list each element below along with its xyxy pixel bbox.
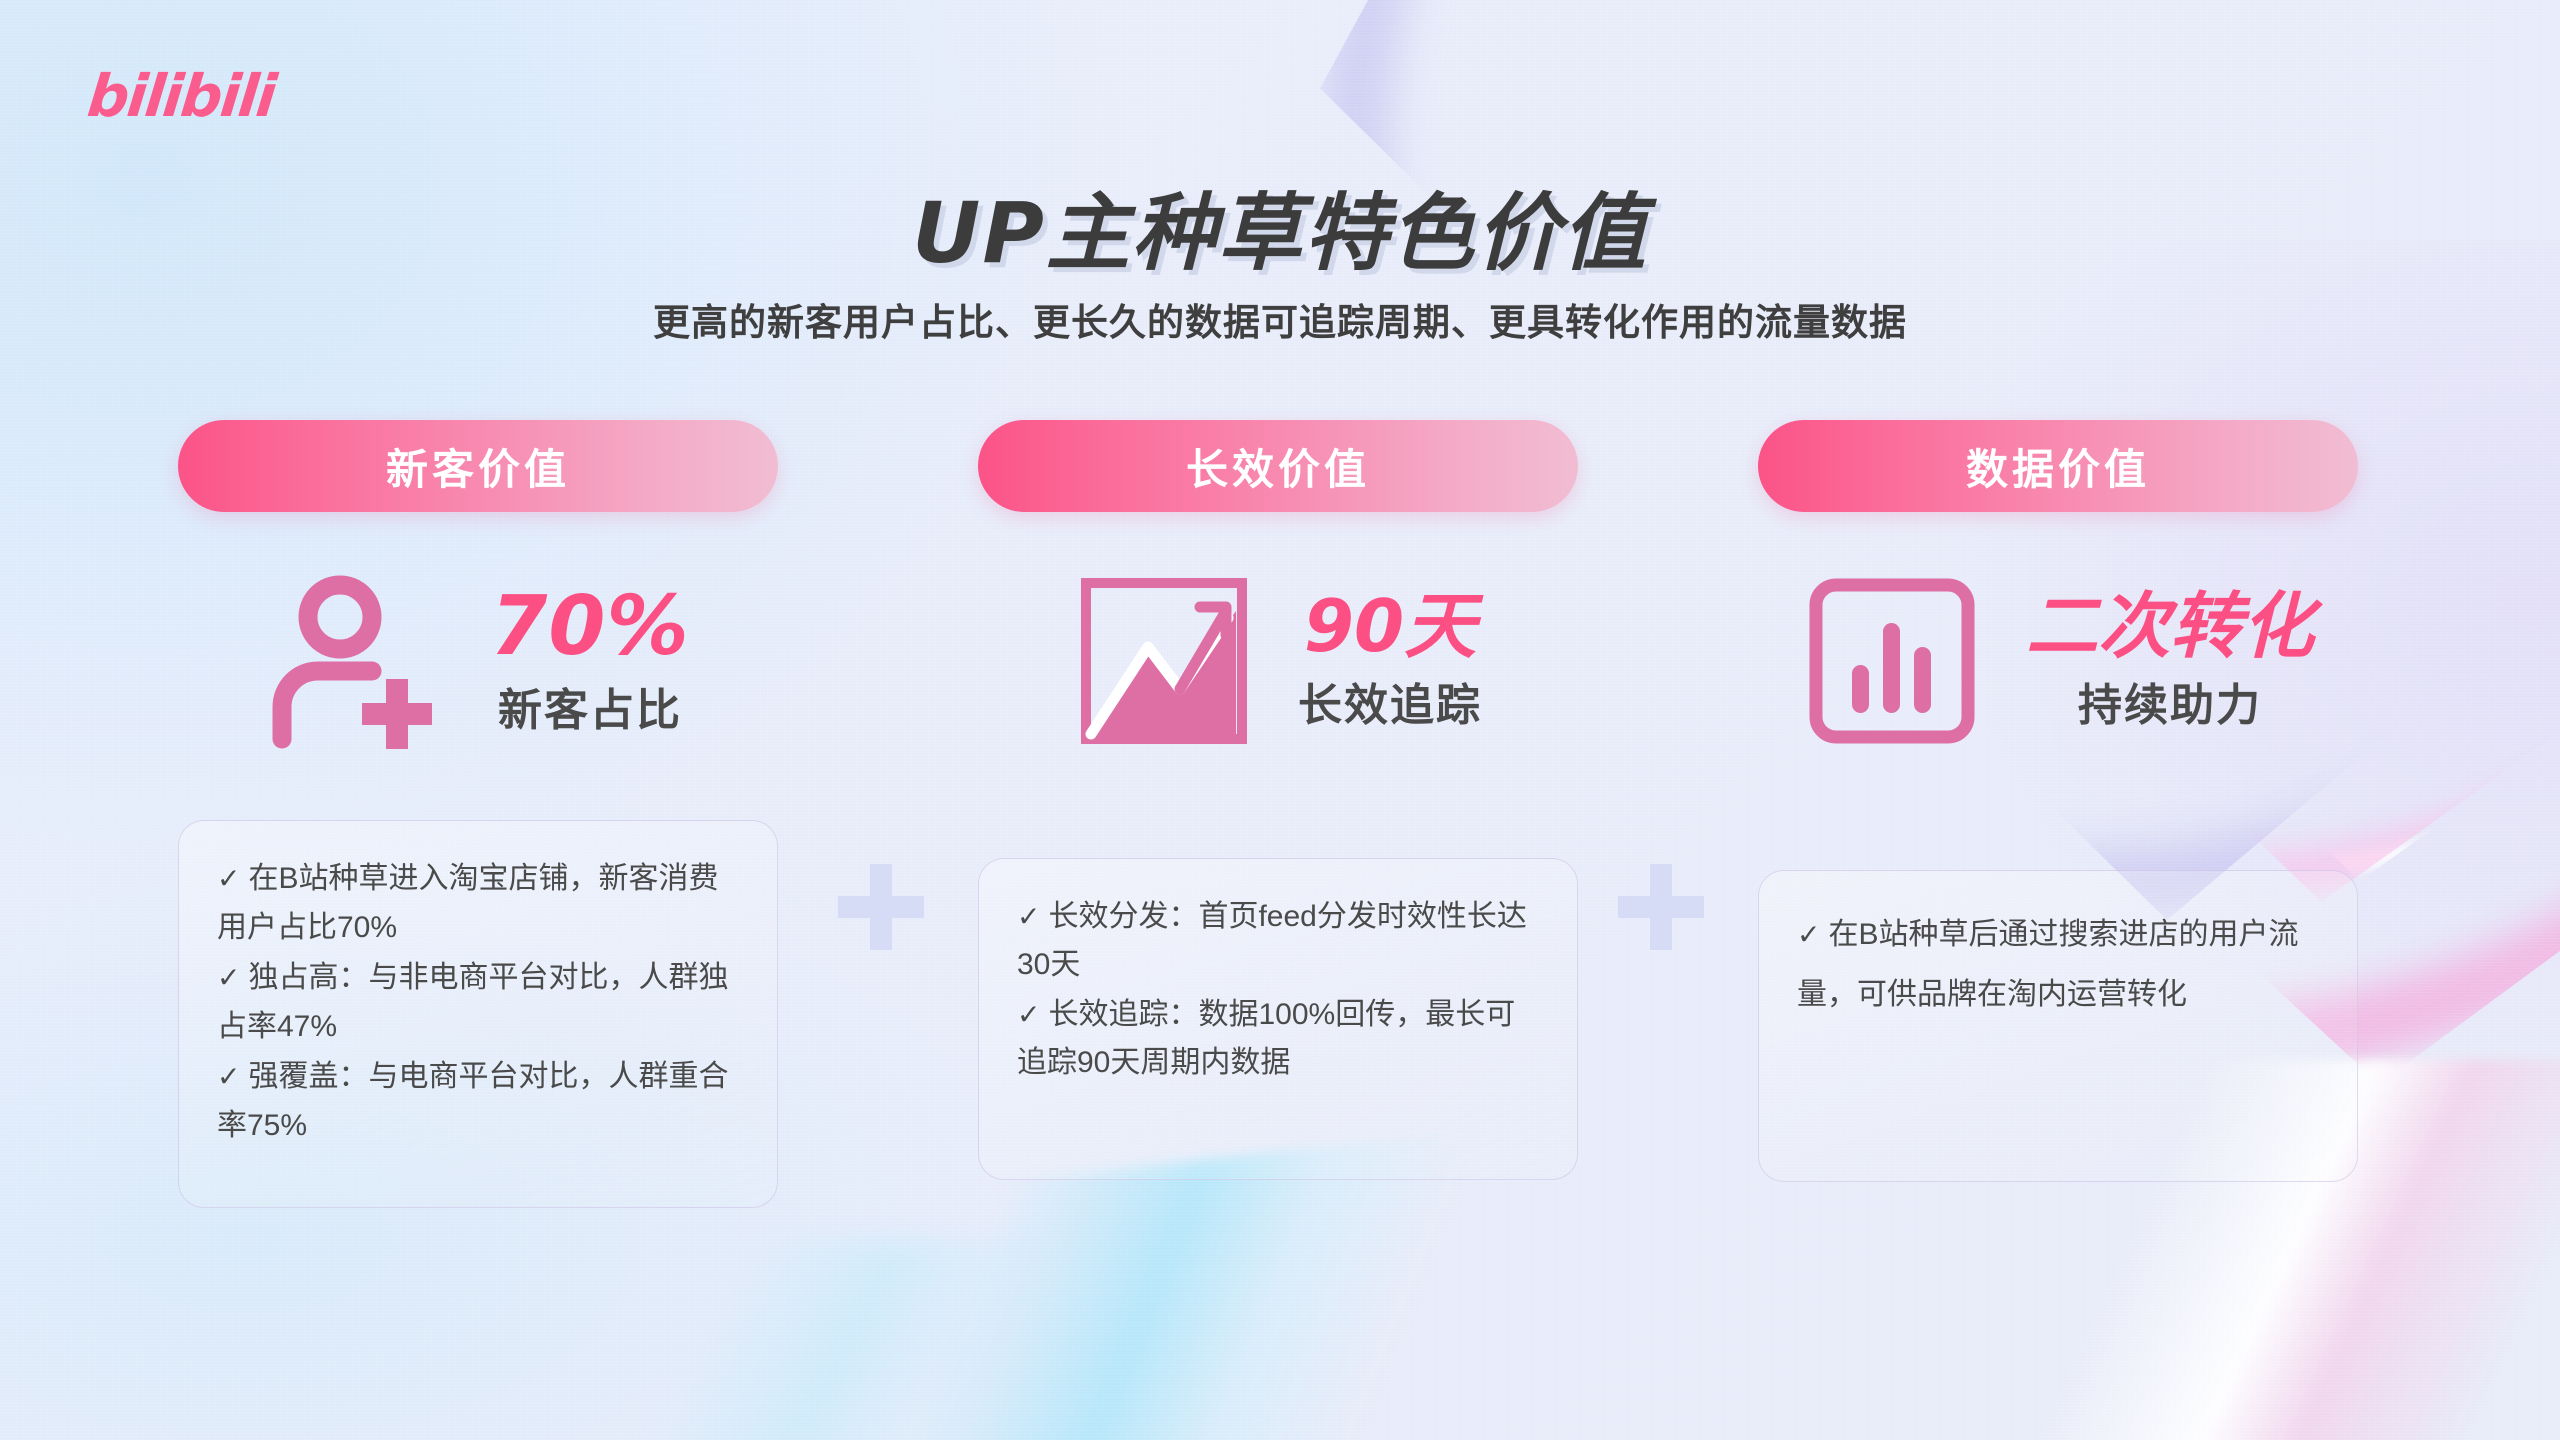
check-icon: ✓ — [217, 962, 240, 993]
check-icon: ✓ — [1017, 999, 1040, 1030]
list-item: ✓强覆盖：与电商平台对比，人群重合率75% — [217, 1053, 739, 1150]
stat-label: 长效追踪 — [1298, 669, 1482, 733]
pill-label: 长效价值 — [1186, 436, 1370, 497]
stat-row-new-customer: 70% 新客占比 — [178, 556, 778, 766]
plus-separator-2 — [1618, 864, 1704, 950]
bar-chart-icon — [1802, 571, 1982, 751]
stat-value: 90天 — [1304, 589, 1476, 665]
bullet-text: 强覆盖：与电商平台对比，人群重合率75% — [217, 1060, 728, 1142]
bullet-text: 独占高：与非电商平台对比，人群独占率47% — [217, 961, 728, 1043]
value-columns: 新客价值 70% 新客占比 ✓在B站种草进入淘宝店铺，新客消费用户占 — [0, 420, 2560, 1280]
check-icon: ✓ — [217, 1061, 240, 1092]
stat-value: 70% — [490, 584, 689, 670]
page-title: UP主种草特色价值 — [0, 166, 2560, 287]
stat-text-data: 二次转化 持续助力 — [2026, 589, 2314, 733]
bullet-list: ✓长效分发：首页feed分发时效性长达30天 ✓长效追踪：数据100%回传，最长… — [1017, 893, 1539, 1087]
value-column-new-customer: 新客价值 70% 新客占比 ✓在B站种草进入淘宝店铺，新客消费用户占 — [178, 420, 778, 512]
detail-card-data: ✓在B站种草后通过搜索进店的用户流量，可供品牌在淘内运营转化 — [1758, 870, 2358, 1182]
plus-icon — [838, 864, 924, 950]
bilibili-logo: bilibili — [84, 62, 277, 130]
bullet-text: 长效追踪：数据100%回传，最长可追踪90天周期内数据 — [1017, 998, 1515, 1079]
check-icon: ✓ — [217, 863, 240, 894]
list-item: ✓独占高：与非电商平台对比，人群独占率47% — [217, 954, 739, 1051]
plus-icon — [1618, 864, 1704, 950]
bullet-list: ✓在B站种草后通过搜索进店的用户流量，可供品牌在淘内运营转化 — [1797, 905, 2319, 1025]
check-icon: ✓ — [1797, 919, 1820, 950]
list-item: ✓长效分发：首页feed分发时效性长达30天 — [1017, 893, 1539, 989]
pill-label: 数据价值 — [1966, 436, 2150, 497]
pill-header-long-term[interactable]: 长效价值 — [978, 420, 1578, 512]
pill-header-data[interactable]: 数据价值 — [1758, 420, 2358, 512]
value-column-data: 数据价值 二次转化 持续助力 ✓在B站种草 — [1758, 420, 2358, 512]
stat-label: 持续助力 — [2078, 669, 2262, 733]
detail-card-long-term: ✓长效分发：首页feed分发时效性长达30天 ✓长效追踪：数据100%回传，最长… — [978, 858, 1578, 1180]
list-item: ✓长效追踪：数据100%回传，最长可追踪90天周期内数据 — [1017, 991, 1539, 1087]
bullet-text: 在B站种草进入淘宝店铺，新客消费用户占比70% — [217, 862, 718, 944]
list-item: ✓在B站种草后通过搜索进店的用户流量，可供品牌在淘内运营转化 — [1797, 905, 2319, 1025]
user-plus-icon — [266, 571, 446, 751]
stat-text-new-customer: 70% 新客占比 — [490, 584, 689, 738]
list-item: ✓在B站种草进入淘宝店铺，新客消费用户占比70% — [217, 855, 739, 952]
check-icon: ✓ — [1017, 901, 1040, 932]
stat-label: 新客占比 — [498, 674, 682, 738]
stat-value: 二次转化 — [2026, 589, 2314, 665]
bullet-list: ✓在B站种草进入淘宝店铺，新客消费用户占比70% ✓独占高：与非电商平台对比，人… — [217, 855, 739, 1151]
value-column-long-term: 长效价值 90天 长效追踪 — [978, 420, 1578, 512]
stat-row-long-term: 90天 长效追踪 — [978, 556, 1578, 766]
trend-chart-icon — [1074, 571, 1254, 751]
pill-label: 新客价值 — [386, 436, 570, 497]
plus-separator-1 — [838, 864, 924, 950]
bullet-text: 在B站种草后通过搜索进店的用户流量，可供品牌在淘内运营转化 — [1797, 918, 2298, 1011]
detail-card-new-customer: ✓在B站种草进入淘宝店铺，新客消费用户占比70% ✓独占高：与非电商平台对比，人… — [178, 820, 778, 1208]
stat-row-data: 二次转化 持续助力 — [1758, 556, 2358, 766]
pill-header-new-customer[interactable]: 新客价值 — [178, 420, 778, 512]
slide-canvas: bilibili UP主种草特色价值 更高的新客用户占比、更长久的数据可追踪周期… — [0, 0, 2560, 1440]
stat-text-long-term: 90天 长效追踪 — [1298, 589, 1482, 733]
page-subtitle: 更高的新客用户占比、更长久的数据可追踪周期、更具转化作用的流量数据 — [0, 292, 2560, 346]
bullet-text: 长效分发：首页feed分发时效性长达30天 — [1017, 900, 1527, 981]
